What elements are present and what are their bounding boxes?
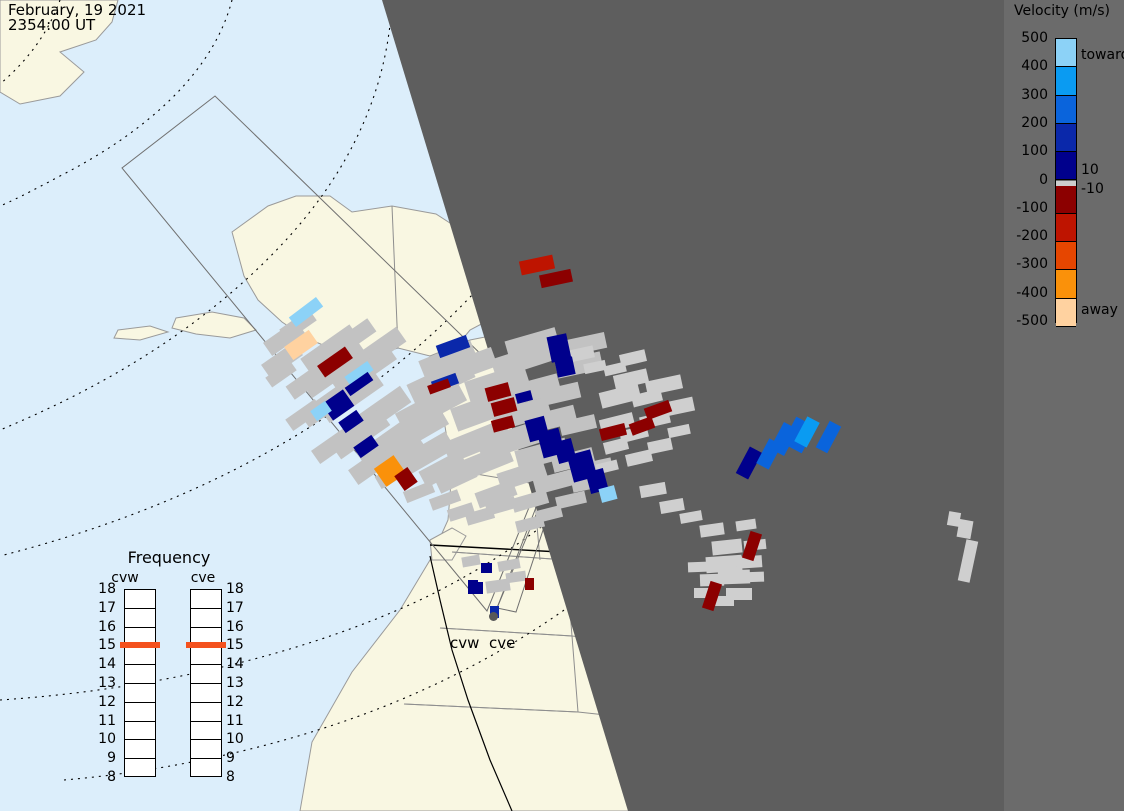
frequency-bar-cvw[interactable] — [124, 589, 156, 777]
frequency-scale-segment — [191, 740, 221, 759]
frequency-tick-label: 13 — [226, 676, 252, 690]
colorbar-swatch — [1056, 96, 1076, 124]
frequency-scale-segment — [191, 703, 221, 722]
ground-scatter-cell — [688, 562, 708, 573]
colorbar-toward-label: toward — [1081, 48, 1124, 62]
velocity-cell — [525, 578, 534, 590]
frequency-tick-label: 16 — [90, 620, 116, 634]
colorbar-gradient[interactable] — [1055, 38, 1077, 323]
velocity-colorbar-panel: Velocity (m/s) toward 10 -10 away 500400… — [1004, 0, 1124, 811]
frequency-scale-segment — [125, 722, 155, 741]
velocity-cell — [474, 582, 483, 594]
frequency-tick-label: 9 — [226, 751, 252, 765]
velocity-cell — [554, 356, 575, 377]
frequency-tick-label: 11 — [226, 714, 252, 728]
frequency-tick-label: 11 — [90, 714, 116, 728]
frequency-tick-label: 8 — [226, 770, 252, 784]
frequency-tick-label: 17 — [90, 601, 116, 615]
colorbar-swatch — [1056, 152, 1076, 180]
frequency-scale-segment — [125, 684, 155, 703]
frequency-scale-segment — [191, 590, 221, 609]
colorbar-positive-threshold-label: 10 — [1081, 163, 1099, 177]
frequency-tick-label: 15 — [226, 638, 252, 652]
velocity-map[interactable]: February, 19 2021 2354:00 UT cvw cve Fre… — [0, 0, 1004, 811]
frequency-marker-cve — [186, 642, 226, 648]
colorbar-title: Velocity (m/s) — [1000, 3, 1124, 19]
colorbar-swatch — [1056, 299, 1076, 327]
frequency-bar-cve[interactable] — [190, 589, 222, 777]
station-marker-dot[interactable] — [489, 612, 498, 621]
frequency-scale-segment — [125, 740, 155, 759]
frequency-tick-label: 14 — [226, 657, 252, 671]
observation-time: 2354:00 UT — [8, 17, 95, 33]
frequency-scale-segment — [191, 722, 221, 741]
frequency-tick-label: 18 — [226, 582, 252, 596]
frequency-scale-segment — [125, 665, 155, 684]
ground-scatter-cell — [742, 572, 764, 583]
frequency-scale-segment — [191, 759, 221, 778]
colorbar-tick-label: 200 — [1021, 116, 1048, 130]
colorbar-swatch — [1056, 67, 1076, 95]
frequency-tick-label: 12 — [90, 695, 116, 709]
colorbar-swatch — [1056, 39, 1076, 67]
frequency-tick-label: 10 — [226, 732, 252, 746]
frequency-marker-cvw — [120, 642, 160, 648]
frequency-tick-label: 16 — [226, 620, 252, 634]
frequency-scale-segment — [125, 703, 155, 722]
radar-map-page: February, 19 2021 2354:00 UT cvw cve Fre… — [0, 0, 1124, 811]
colorbar-tick-label: -100 — [1016, 201, 1048, 215]
colorbar-tick-label: 0 — [1039, 173, 1048, 187]
colorbar-swatch — [1056, 242, 1076, 270]
frequency-tick-label: 15 — [90, 638, 116, 652]
frequency-scale-segment — [191, 609, 221, 628]
station-label-cve: cve — [489, 634, 515, 652]
ground-scatter-cell — [947, 511, 961, 527]
colorbar-tick-label: -400 — [1016, 286, 1048, 300]
frequency-tick-label: 17 — [226, 601, 252, 615]
velocity-cell — [481, 563, 492, 573]
frequency-tick-label: 14 — [90, 657, 116, 671]
frequency-scale-segment — [191, 646, 221, 665]
colorbar-away-label: away — [1081, 303, 1118, 317]
frequency-scale-segment — [191, 684, 221, 703]
colorbar-tick-label: 400 — [1021, 59, 1048, 73]
colorbar-tick-label: 100 — [1021, 144, 1048, 158]
colorbar-swatch — [1056, 270, 1076, 298]
colorbar-swatch — [1056, 186, 1076, 214]
frequency-tick-label: 12 — [226, 695, 252, 709]
frequency-tick-label: 10 — [90, 732, 116, 746]
colorbar-swatch — [1056, 214, 1076, 242]
frequency-scale-segment — [125, 759, 155, 778]
colorbar-tick-label: -200 — [1016, 229, 1048, 243]
colorbar-tick-label: -500 — [1016, 314, 1048, 328]
frequency-scale-segment — [125, 609, 155, 628]
colorbar-tick-label: 300 — [1021, 88, 1048, 102]
colorbar-swatch — [1056, 124, 1076, 152]
frequency-tick-label: 8 — [90, 770, 116, 784]
frequency-tick-label: 13 — [90, 676, 116, 690]
frequency-legend: Frequency cvw 18171615141312111098 cve 1… — [84, 548, 254, 788]
frequency-tick-label: 9 — [90, 751, 116, 765]
colorbar-negative-threshold-label: -10 — [1081, 182, 1104, 196]
colorbar-tick-label: 500 — [1021, 31, 1048, 45]
colorbar-tick-label: -300 — [1016, 257, 1048, 271]
frequency-scale-segment — [191, 665, 221, 684]
frequency-tick-label: 18 — [90, 582, 116, 596]
station-label-cvw: cvw — [450, 634, 479, 652]
frequency-scale-segment — [125, 590, 155, 609]
frequency-legend-title: Frequency — [84, 548, 254, 567]
frequency-scale-segment — [125, 646, 155, 665]
